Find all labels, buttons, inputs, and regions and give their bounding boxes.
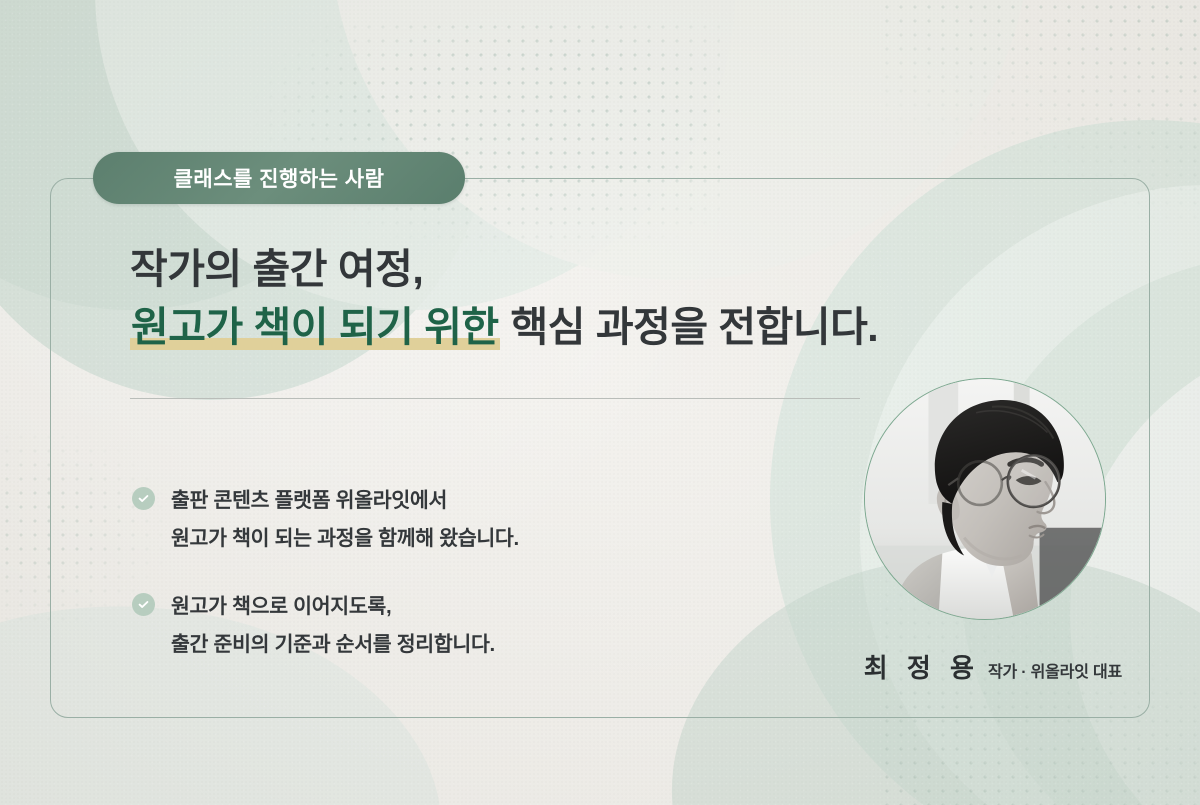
speaker-photo xyxy=(865,379,1105,619)
list-item: 출판 콘텐츠 플랫폼 위올라잇에서 원고가 책이 되는 과정을 함께해 왔습니다… xyxy=(132,482,832,558)
headline-line-2: 원고가 책이 되기 위한 핵심 과정을 전합니다. xyxy=(130,298,930,356)
list-item-line-1: 원고가 책으로 이어지도록, xyxy=(171,588,495,626)
bullet-list: 출판 콘텐츠 플랫폼 위올라잇에서 원고가 책이 되는 과정을 함께해 왔습니다… xyxy=(132,482,832,694)
slide-canvas: 클래스를 진행하는 사람 작가의 출간 여정, 원고가 책이 되기 위한 핵심 … xyxy=(0,0,1200,805)
headline-highlight: 원고가 책이 되기 위한 xyxy=(130,304,500,350)
list-item-text: 출판 콘텐츠 플랫폼 위올라잇에서 원고가 책이 되는 과정을 함께해 왔습니다… xyxy=(171,482,519,558)
section-badge-label: 클래스를 진행하는 사람 xyxy=(174,163,385,193)
section-badge: 클래스를 진행하는 사람 xyxy=(93,152,465,204)
list-item: 원고가 책으로 이어지도록, 출간 준비의 기준과 순서를 정리합니다. xyxy=(132,588,832,664)
speaker-name: 최 정 용 xyxy=(864,648,980,685)
list-item-line-2: 원고가 책이 되는 과정을 함께해 왔습니다. xyxy=(171,520,519,558)
horizontal-divider xyxy=(130,398,860,399)
list-item-line-2: 출간 준비의 기준과 순서를 정리합니다. xyxy=(171,626,495,664)
list-item-line-1: 출판 콘텐츠 플랫폼 위올라잇에서 xyxy=(171,482,519,520)
avatar xyxy=(864,378,1106,620)
page-title: 작가의 출간 여정, 원고가 책이 되기 위한 핵심 과정을 전합니다. xyxy=(130,240,930,356)
speaker-credit: 최 정 용 작가 · 위올라잇 대표 xyxy=(864,648,1122,685)
check-circle-icon xyxy=(132,487,155,510)
speaker-role: 작가 · 위올라잇 대표 xyxy=(988,658,1122,682)
check-circle-icon xyxy=(132,593,155,616)
headline-line-1: 작가의 출간 여정, xyxy=(130,240,930,298)
headline-line-2-rest: 핵심 과정을 전합니다. xyxy=(500,304,879,350)
list-item-text: 원고가 책으로 이어지도록, 출간 준비의 기준과 순서를 정리합니다. xyxy=(171,588,495,664)
